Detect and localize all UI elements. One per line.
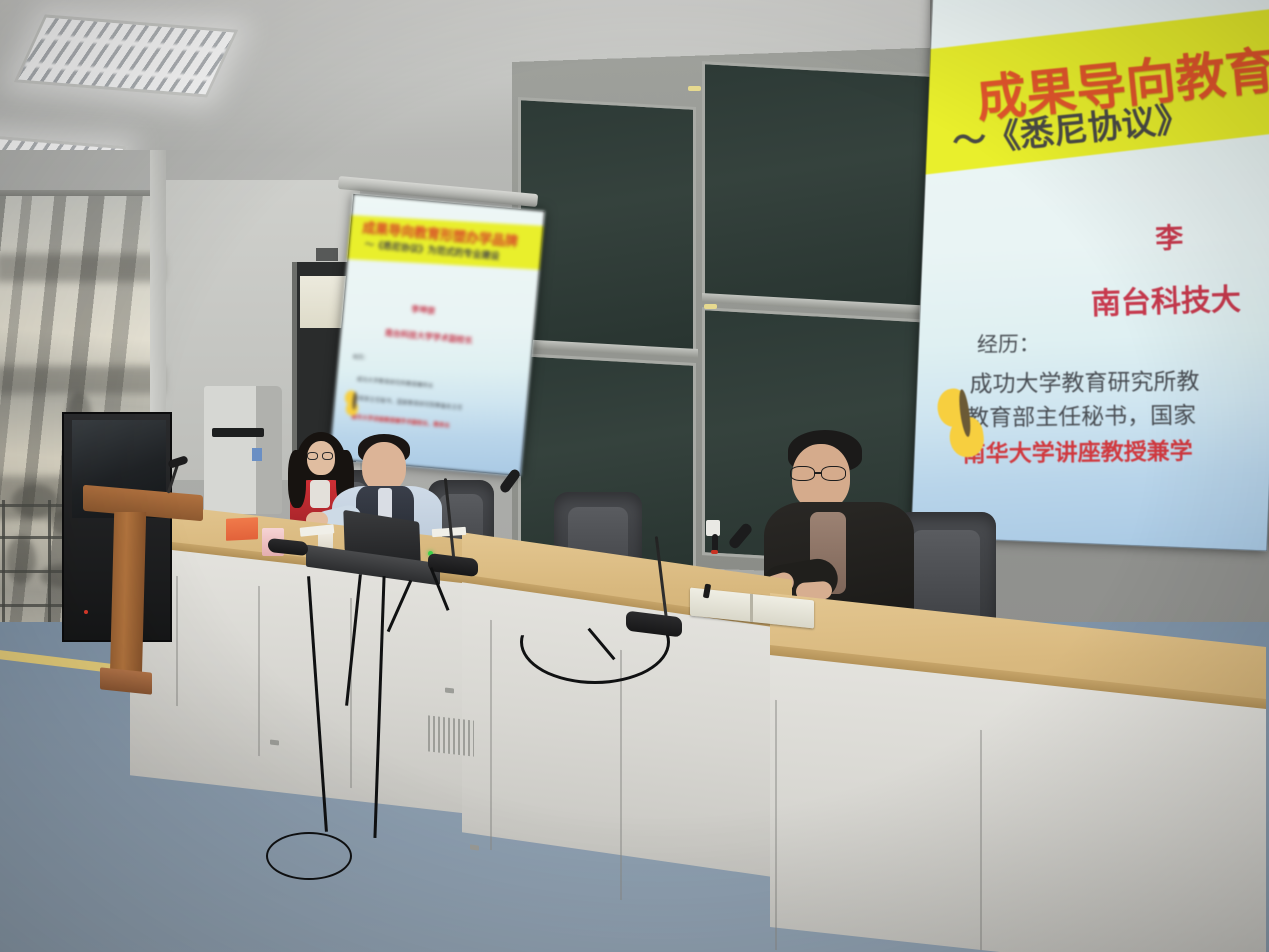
panel-seam <box>620 650 622 900</box>
slide-bio-label: 经历： <box>352 352 369 361</box>
air-conditioner <box>204 386 282 514</box>
chalkboard-panel <box>702 61 950 313</box>
cabinet-latch <box>445 687 454 693</box>
curtain-shadow-band <box>0 366 164 394</box>
air-conditioner-vent <box>212 428 264 437</box>
lectern-column <box>110 512 146 680</box>
chalk-piece <box>688 86 701 91</box>
table-name-card <box>226 517 258 541</box>
lecture-hall-photo: 成果导向教育形塑办学品牌 ～《悉尼协议》为范式的专业建设 李坤崇 南台科技大学学… <box>0 0 1269 952</box>
slide-bio-line-highlight: 南华大学讲座教授兼学术副校长、教务长 <box>351 413 450 430</box>
slide-bio-line: 教育部主任秘书，国家 <box>966 396 1196 433</box>
slide-speaker-name: 李坤崇 <box>411 304 436 317</box>
panel-seam <box>176 576 178 706</box>
glasses <box>790 466 850 482</box>
rack-power-led <box>84 610 88 614</box>
slide-bio-line: 成功大学教育研究所教授兼所长 <box>356 375 433 390</box>
slide-speaker-name: 李 <box>1155 216 1184 257</box>
chalk-piece <box>704 304 717 309</box>
coiled-cable <box>266 832 352 880</box>
cabinet-latch <box>270 739 279 745</box>
glasses <box>307 452 335 461</box>
panel-seam <box>258 586 260 756</box>
air-conditioner-badge <box>252 448 262 461</box>
right-slide-content: 成果导向教育 ～《悉尼协议》 李 南台科技大 经历： 成功大学教育研究所教 教育… <box>911 0 1269 551</box>
panel-seam <box>775 700 777 950</box>
panel-seam <box>350 598 352 788</box>
panel-seam <box>980 730 982 950</box>
slide-bio-line: 成功大学教育研究所教 <box>969 362 1199 399</box>
microphone-indicator <box>711 550 718 554</box>
panel-seam <box>490 620 492 850</box>
curtain-shadow-band <box>0 254 164 282</box>
wall-sign <box>316 248 338 261</box>
slide-bio-line: 教育部主任秘书，国家教育研究院筹备处主任 <box>353 394 463 412</box>
light-grille <box>18 18 234 95</box>
butterfly-graphic <box>935 383 1000 462</box>
cabinet-vent <box>428 715 474 756</box>
slide-speaker-org: 南台科技大学学术副校长 <box>384 327 473 346</box>
slide-speaker-org: 南台科技大 <box>1090 274 1241 322</box>
notebook-spine <box>750 594 753 622</box>
slide-bio-label: 经历： <box>977 328 1040 359</box>
chalkboard-panel <box>518 97 696 355</box>
right-projection-screen: 成果导向教育 ～《悉尼协议》 李 南台科技大 经历： 成功大学教育研究所教 教育… <box>911 0 1269 551</box>
butterfly-graphic <box>343 390 365 418</box>
